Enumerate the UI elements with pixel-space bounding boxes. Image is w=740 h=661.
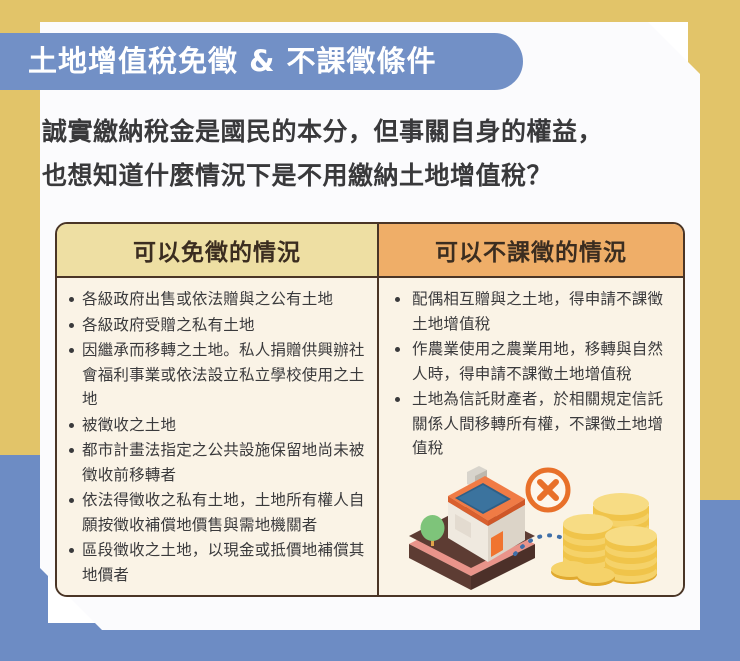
infographic-poster: 代書 土地增值稅免徵 & 不課徵條件 誠實繳納稅金是國民的本分，但事關自身的權益…	[0, 0, 740, 661]
lead-paragraph: 誠實繳納稅金是國民的本分，但事關自身的權益， 也想知道什麼情況下是不用繳納土地增…	[42, 110, 707, 198]
list-item: 因繼承而移轉之土地。私人捐贈供興辦社會福利事業或依法設立私立學校使用之土地	[65, 338, 367, 412]
list-item: 配偶相互贈與之土地，得申請不課徵土地增值稅	[389, 287, 673, 336]
table-cell-non-levied: 配偶相互贈與之土地，得申請不課徵土地增值稅 作農業使用之農業用地，移轉與自然人時…	[379, 278, 683, 597]
coin-stack-icon	[551, 493, 657, 586]
table-header-row: 可以免徵的情況 可以不課徵的情況	[57, 224, 683, 278]
list-item: 各級政府出售或依法贈與之公有土地	[65, 287, 367, 312]
non-levied-list: 配偶相互贈與之土地，得申請不課徵土地增值稅 作農業使用之農業用地，移轉與自然人時…	[389, 287, 673, 461]
list-item: 區段徵收之土地，以現金或抵價地補償其地價者	[65, 538, 367, 587]
table-header-non-levied: 可以不課徵的情況	[379, 224, 683, 276]
illustration-house-coins	[393, 466, 673, 591]
list-item: 都市計畫法指定之公共設施保留地尚未被徵收前移轉者	[65, 438, 367, 487]
table-cell-exempt: 各級政府出售或依法贈與之公有土地 各級政府受贈之私有土地 因繼承而移轉之土地。私…	[57, 278, 379, 597]
exempt-list: 各級政府出售或依法贈與之公有土地 各級政府受贈之私有土地 因繼承而移轉之土地。私…	[65, 287, 367, 587]
frame-band-top	[0, 0, 740, 22]
list-item: 土地為信託財產者，於相關規定信託關係人間移轉所有權，不課徵土地增值稅	[389, 387, 673, 461]
page-title: 土地增值稅免徵 & 不課徵條件	[28, 47, 436, 76]
list-item: 各級政府受贈之私有土地	[65, 313, 367, 338]
circled-x-icon	[528, 470, 568, 510]
comparison-table: 可以免徵的情況 可以不課徵的情況 各級政府出售或依法贈與之公有土地 各級政府受贈…	[55, 222, 685, 597]
table-header-exempt: 可以免徵的情況	[57, 224, 379, 276]
table-body-row: 各級政府出售或依法贈與之公有土地 各級政府受贈之私有土地 因繼承而移轉之土地。私…	[57, 278, 683, 597]
list-item: 被徵收之土地	[65, 413, 367, 438]
list-item: 依法得徵收之私有土地，土地所有權人自願按徵收補償地價售與需地機關者	[65, 488, 367, 537]
page-title-banner: 土地增值稅免徵 & 不課徵條件	[0, 33, 523, 90]
lead-line-2: 也想知道什麼情況下是不用繳納土地增值稅？	[42, 154, 707, 198]
list-item: 作農業使用之農業用地，移轉與自然人時，得申請不課徵土地增值稅	[389, 337, 673, 386]
lead-line-1: 誠實繳納稅金是國民的本分，但事關自身的權益，	[42, 110, 707, 154]
